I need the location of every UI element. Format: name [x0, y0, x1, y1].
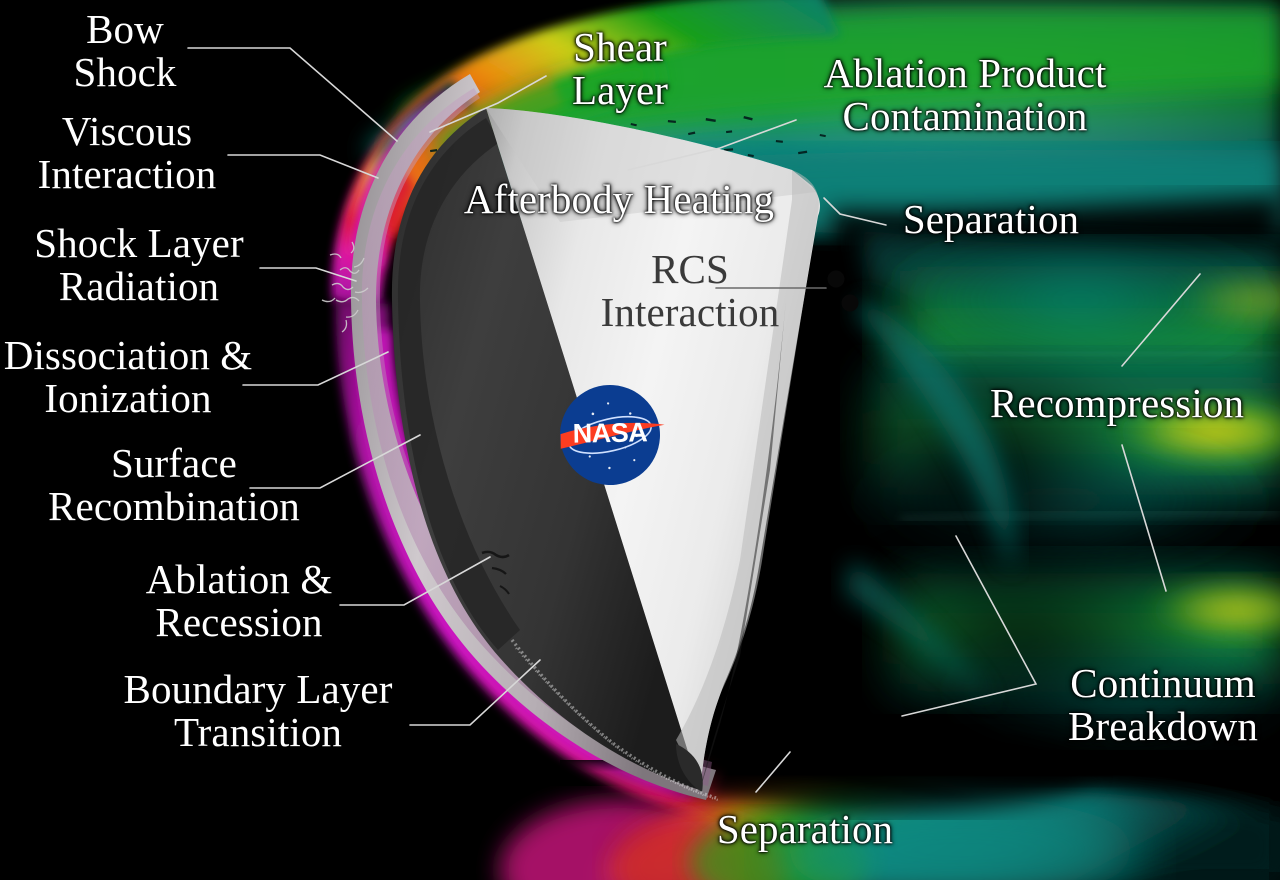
label-dissociation-ionization: Dissociation & Ionization: [0, 334, 262, 419]
label-afterbody-heating: Afterbody Heating: [434, 178, 804, 221]
label-surface-recombination: Surface Recombination: [24, 442, 324, 527]
leader-continuum-breakdown: [902, 536, 1036, 716]
label-rcs-interaction: RCS Interaction: [570, 248, 810, 333]
label-shock-layer-radiation: Shock Layer Radiation: [8, 222, 270, 307]
leader-dissociation-ionization: [243, 352, 388, 385]
leader-recompression-upper: [1122, 274, 1200, 366]
label-ablation-product-contamination: Ablation Product Contamination: [800, 52, 1130, 137]
label-shear-layer: Shear Layer: [540, 26, 700, 111]
leader-recompression-lower: [1122, 445, 1166, 591]
label-bow-shock: Bow Shock: [30, 8, 220, 93]
leader-separation-bottom: [756, 752, 790, 792]
label-continuum-breakdown: Continuum Breakdown: [1040, 662, 1280, 747]
leader-shear-layer: [430, 76, 546, 132]
leader-shock-layer-radiation: [260, 268, 356, 281]
label-ablation-recession: Ablation & Recession: [124, 558, 354, 643]
leader-ablation-recession: [340, 557, 490, 605]
leader-ablation-contamination: [628, 120, 796, 170]
label-viscous-interaction: Viscous Interaction: [12, 110, 242, 195]
leader-boundary-layer-transition: [410, 660, 540, 725]
aerothermodynamics-diagram: NASA Bow Shock Viscous Interaction Shock…: [0, 0, 1280, 880]
label-recompression: Recompression: [952, 382, 1280, 425]
leader-viscous-interaction: [228, 155, 378, 178]
label-separation-top: Separation: [886, 198, 1096, 241]
label-separation-bottom: Separation: [700, 808, 910, 851]
label-boundary-layer-transition: Boundary Layer Transition: [98, 668, 418, 753]
leader-separation-top: [824, 198, 886, 225]
